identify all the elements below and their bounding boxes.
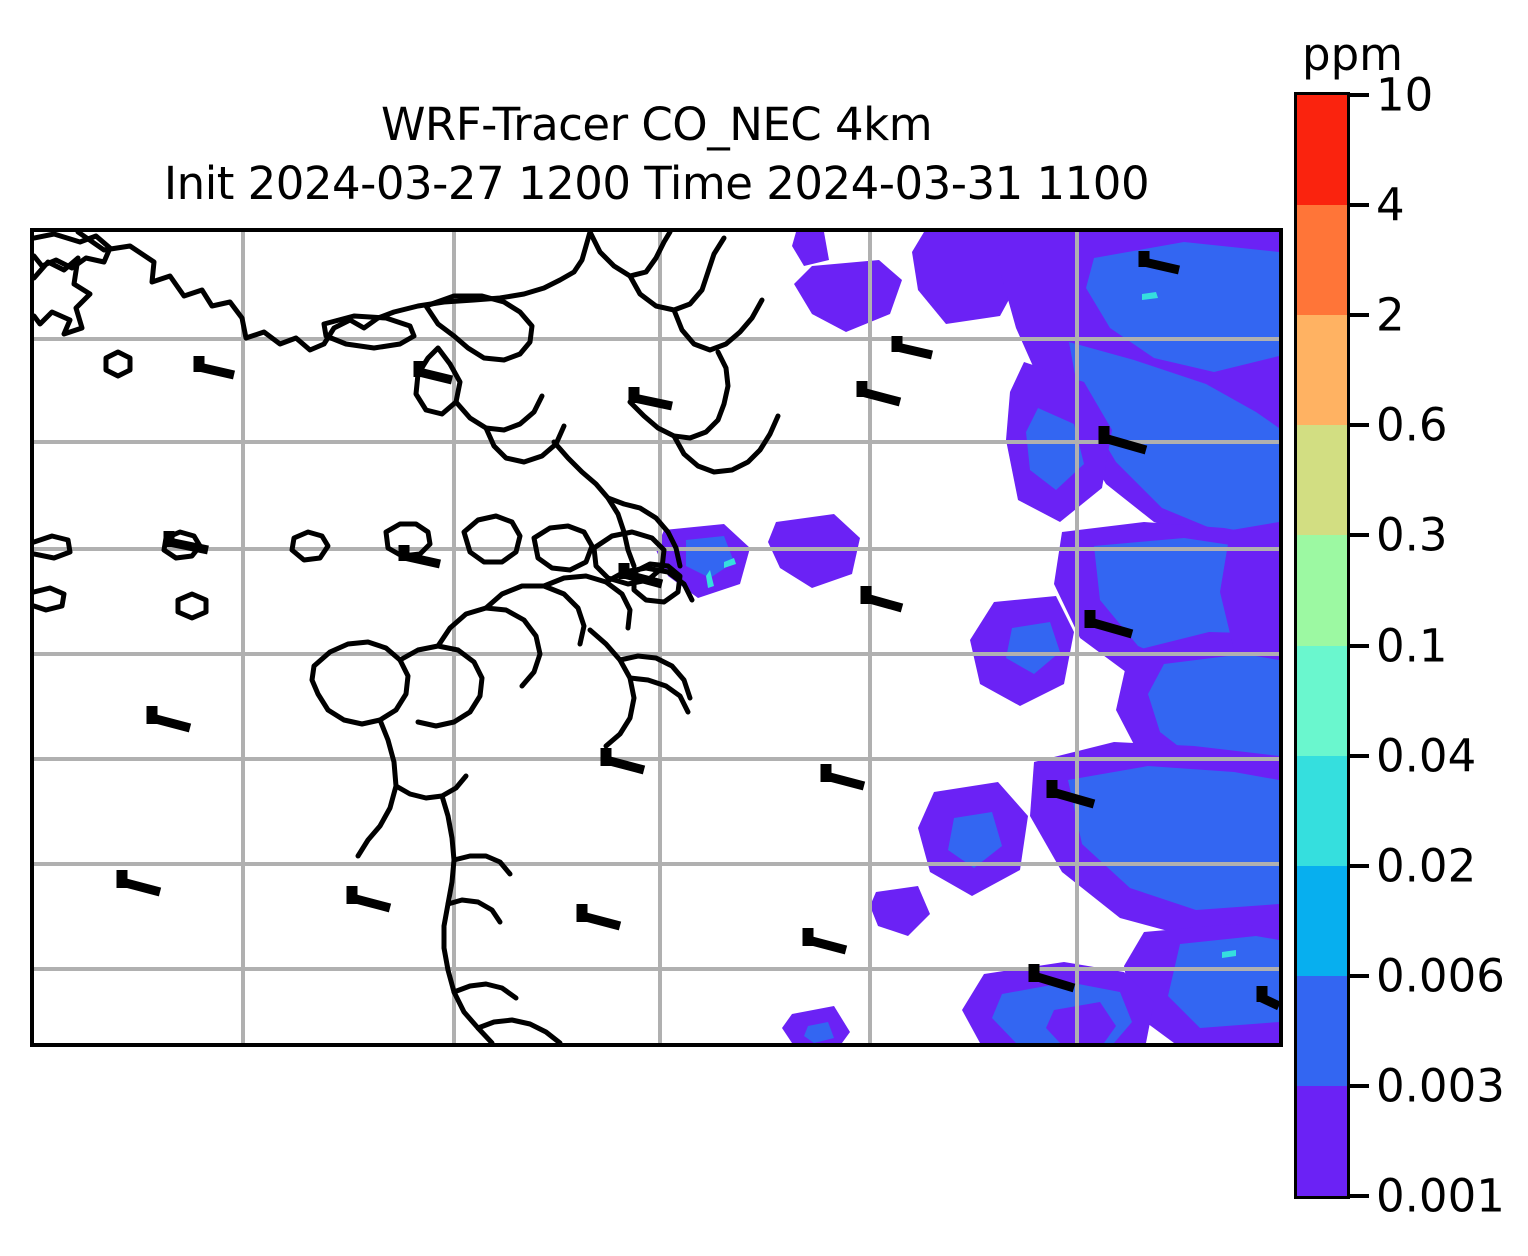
colorbar-tick-mark (1350, 93, 1369, 97)
wind-barb (404, 545, 440, 564)
wind-barb (1034, 964, 1074, 988)
colorbar-tick-mark (1350, 1084, 1369, 1088)
colorbar-tick-label: 0.04 (1376, 729, 1476, 782)
wind-barb (1144, 251, 1179, 270)
colorbar-band (1297, 425, 1347, 536)
colorbar-tick-label: 2 (1376, 289, 1405, 342)
wind-barb (152, 706, 190, 728)
colorbar[interactable] (1294, 92, 1350, 1199)
wind-barb (624, 563, 662, 584)
colorbar-band (1297, 976, 1347, 1087)
wind-barb (606, 748, 644, 770)
colorbar-band (1297, 646, 1347, 757)
wind-barb (1104, 426, 1146, 450)
colorbar-tick-mark (1350, 644, 1369, 648)
wind-barb (862, 381, 900, 402)
colorbar-tick-mark (1350, 423, 1369, 427)
wind-barb (897, 336, 932, 355)
colorbar-band (1297, 315, 1347, 426)
figure-root: WRF-Tracer CO_NEC 4km Init 2024-03-27 12… (0, 0, 1528, 1256)
colorbar-tick-mark (1350, 533, 1369, 537)
colorbar-band (1297, 205, 1347, 316)
colorbar-tick-mark (1350, 974, 1369, 978)
colorbar-band (1297, 95, 1347, 206)
wind-barb (634, 387, 672, 406)
colorbar-tick-label: 0.6 (1376, 399, 1448, 452)
wind-barb (1052, 780, 1094, 804)
colorbar-tick-mark (1350, 1194, 1369, 1198)
wind-barb (352, 886, 390, 908)
map-plot-area[interactable] (30, 228, 1283, 1047)
wind-barb (419, 361, 452, 380)
wind-barb (808, 928, 846, 950)
wind-barb (582, 904, 620, 926)
title-line-1: WRF-Tracer CO_NEC 4km (30, 96, 1283, 155)
wind-barb (866, 586, 902, 608)
colorbar-tick-label: 0.001 (1376, 1170, 1505, 1223)
colorbar-band (1297, 535, 1347, 646)
wind-barb (826, 764, 864, 786)
colorbar-tick-label: 0.02 (1376, 839, 1476, 892)
wind-barb (199, 356, 234, 375)
colorbar-tick-label: 0.003 (1376, 1059, 1505, 1112)
colorbar-band (1297, 866, 1347, 977)
colorbar-tick-mark (1350, 864, 1369, 868)
colorbar-tick-label: 0.1 (1376, 619, 1448, 672)
colorbar-band (1297, 756, 1347, 867)
chart-title: WRF-Tracer CO_NEC 4km Init 2024-03-27 12… (30, 96, 1283, 213)
colorbar-tick-label: 0.006 (1376, 949, 1505, 1002)
wind-barb-layer (34, 232, 1279, 1043)
colorbar-tick-label: 10 (1376, 69, 1433, 122)
colorbar-band (1297, 1086, 1347, 1197)
wind-barb (122, 870, 160, 892)
wind-barb (1090, 610, 1132, 634)
colorbar-tick-label: 4 (1376, 179, 1405, 232)
colorbar-tick-mark (1350, 203, 1369, 207)
colorbar-tick-mark (1350, 754, 1369, 758)
wind-barb (1262, 986, 1279, 1006)
colorbar-tick-mark (1350, 313, 1369, 317)
title-line-2: Init 2024-03-27 1200 Time 2024-03-31 110… (30, 155, 1283, 214)
colorbar-tick-label: 0.3 (1376, 509, 1448, 562)
wind-barb (169, 531, 208, 550)
